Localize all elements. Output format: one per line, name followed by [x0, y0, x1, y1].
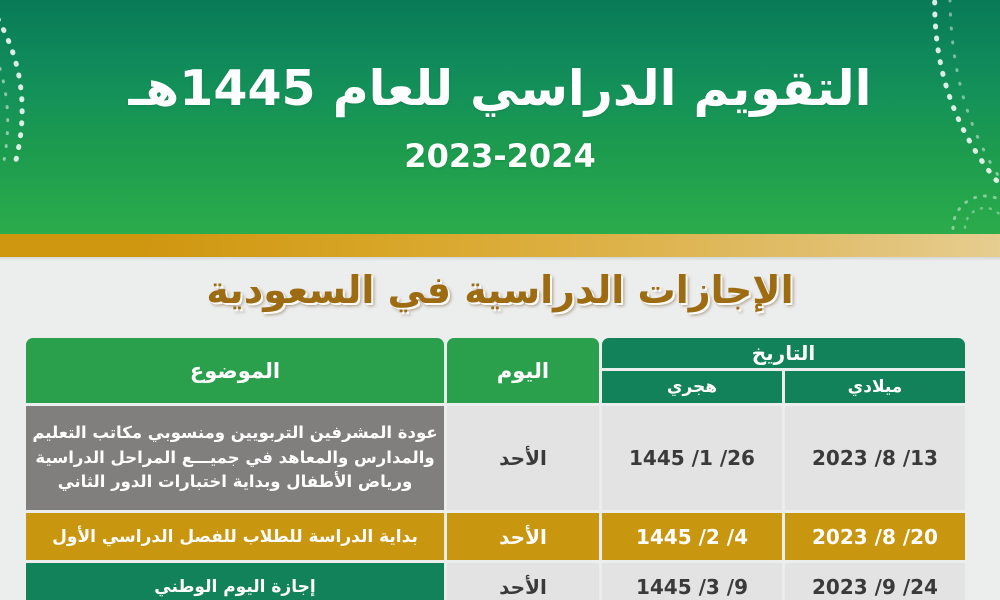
page-title: التقويم الدراسي للعام 1445هـ	[0, 62, 1000, 117]
topic-line: ورياض الأطفال وبداية اختبارات الدور الثا…	[26, 470, 444, 494]
cell-gregorian: 2023 /8 /20	[785, 513, 965, 560]
cell-hijri: 1445 /1 /26	[602, 406, 782, 510]
table-row[interactable]: 2023 /8 /20 1445 /2 /4 الأحد بداية الدرا…	[26, 513, 965, 560]
header-topic: الموضوع	[26, 338, 444, 403]
table-head: التاريخ اليوم الموضوع ميلادي هجري	[26, 338, 965, 403]
academic-years: 2023-2024	[0, 137, 1000, 175]
calendar-table-wrapper: التاريخ اليوم الموضوع ميلادي هجري 2023 /…	[32, 335, 968, 600]
subtitle: الإجازات الدراسية في السعودية	[206, 268, 793, 312]
cell-day: الأحد	[447, 406, 599, 510]
table-body: 2023 /8 /13 1445 /1 /26 الأحد عودة المشر…	[26, 406, 965, 600]
calendar-poster: التقويم الدراسي للعام 1445هـ 2023-2024 ا…	[0, 0, 1000, 600]
table-row[interactable]: 2023 /8 /13 1445 /1 /26 الأحد عودة المشر…	[26, 406, 965, 510]
cell-hijri: 1445 /2 /4	[602, 513, 782, 560]
cell-gregorian: 2023 /8 /13	[785, 406, 965, 510]
cell-topic: إجازة اليوم الوطني	[26, 563, 444, 600]
topic-line: عودة المشرفين التربويين ومنسوبي مكاتب ال…	[26, 421, 444, 445]
cell-day: الأحد	[447, 563, 599, 600]
gold-divider-band	[0, 234, 1000, 257]
subtitle-area: الإجازات الدراسية في السعودية	[0, 268, 1000, 312]
calendar-table: التاريخ اليوم الموضوع ميلادي هجري 2023 /…	[23, 335, 968, 600]
header-banner: التقويم الدراسي للعام 1445هـ 2023-2024	[0, 0, 1000, 234]
table-row[interactable]: 2023 /9 /24 1445 /3 /9 الأحد إجازة اليوم…	[26, 563, 965, 600]
header-row-top: التاريخ اليوم الموضوع	[26, 338, 965, 368]
header-hijri: هجري	[602, 371, 782, 403]
cell-gregorian: 2023 /9 /24	[785, 563, 965, 600]
cell-day: الأحد	[447, 513, 599, 560]
cell-hijri: 1445 /3 /9	[602, 563, 782, 600]
topic-line: والمدارس والمعاهد في جميـــع المراحل الد…	[26, 446, 444, 470]
header-date-group: التاريخ	[602, 338, 965, 368]
cell-topic: بداية الدراسة للطلاب للفصل الدراسي الأول	[26, 513, 444, 560]
header-day: اليوم	[447, 338, 599, 403]
cell-topic: عودة المشرفين التربويين ومنسوبي مكاتب ال…	[26, 406, 444, 510]
header-gregorian: ميلادي	[785, 371, 965, 403]
banner-text-block: التقويم الدراسي للعام 1445هـ 2023-2024	[0, 62, 1000, 175]
